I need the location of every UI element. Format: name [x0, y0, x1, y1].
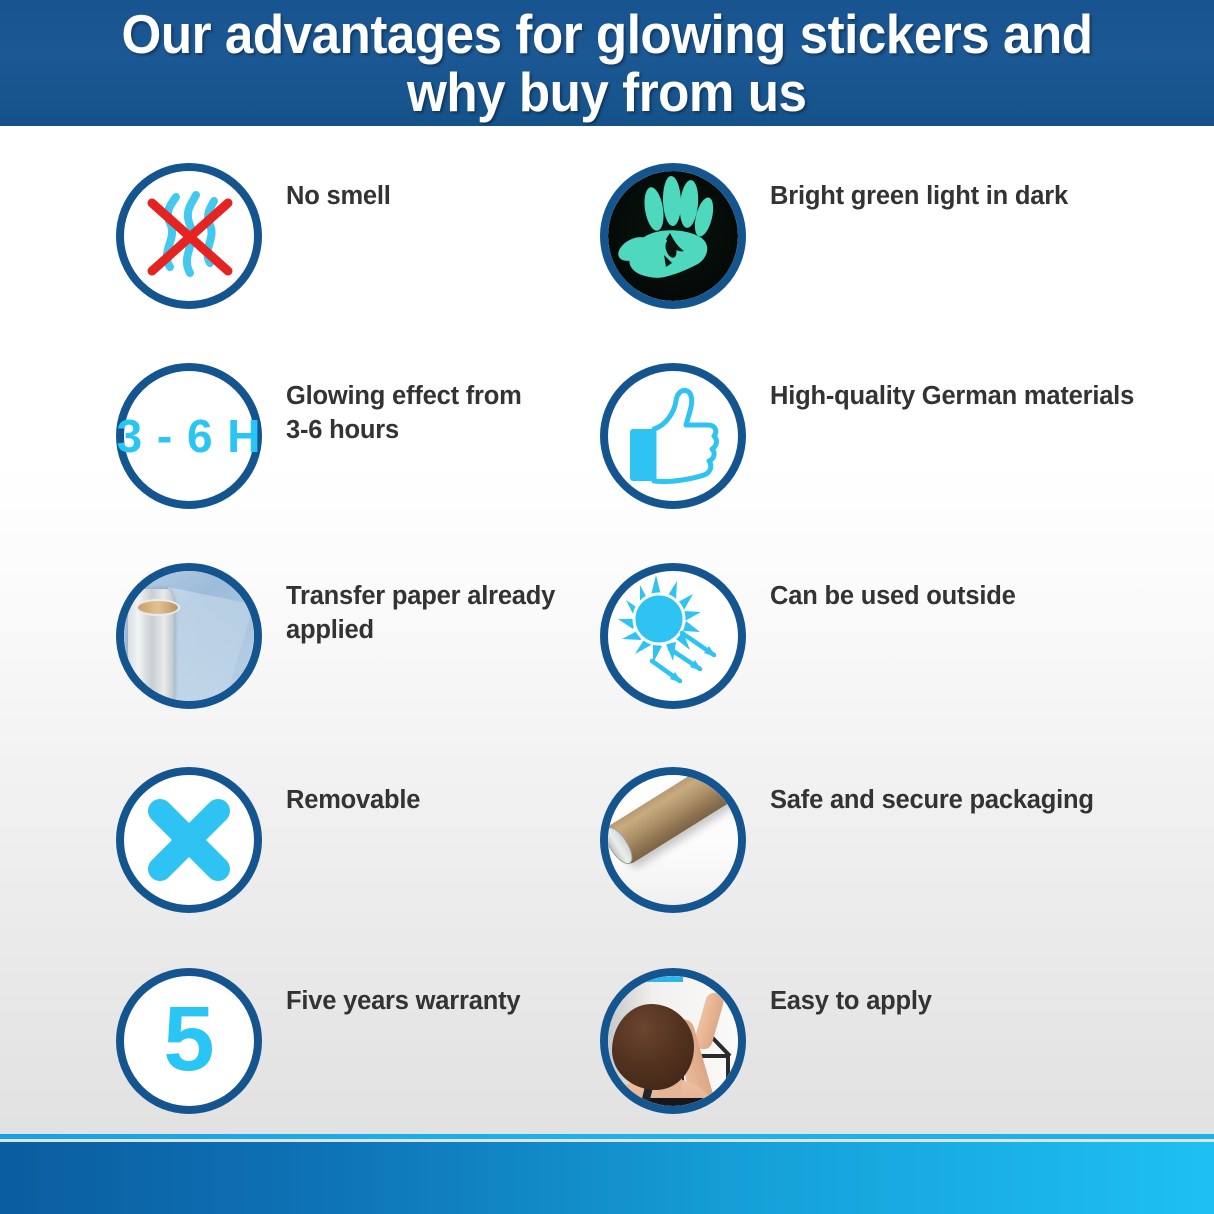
feature-bright-green-light: Bright green light in dark: [600, 163, 1068, 309]
feature-label-line-2: applied: [286, 616, 374, 644]
mailing-tube-photo: [600, 767, 746, 913]
x-mark-glyph: [124, 775, 254, 905]
feature-label: Five years warranty: [286, 968, 520, 1018]
bottom-accent-line: [0, 1134, 1214, 1139]
hours-3-6-icon: 3 - 6 H: [116, 363, 262, 509]
tube-end-cap: [608, 823, 638, 868]
bottom-bar: [0, 1142, 1214, 1214]
handprint-glyph: [608, 171, 738, 301]
feature-label: Safe and secure packaging: [770, 767, 1094, 817]
feature-grid: No smell: [0, 126, 1214, 1136]
feature-warranty: 5 Five years warranty: [116, 968, 520, 1114]
feature-outdoor-use: Can be used outside: [600, 563, 1016, 709]
film-sheet: [168, 587, 254, 701]
feature-german-materials: High-quality German materials: [600, 363, 1134, 509]
feature-label: High-quality German materials: [770, 363, 1134, 413]
feature-label: Glowing effect from 3-6 hours: [286, 363, 522, 447]
sun-rays-glyph: [608, 571, 738, 701]
infographic-page: Our advantages for glowing stickers and …: [0, 0, 1214, 1214]
hours-icon-text: 3 - 6 H: [116, 409, 261, 463]
cardboard-tube: [608, 775, 738, 865]
woman-applying-decal-photo: [600, 968, 746, 1114]
feature-secure-packaging: Safe and secure packaging: [600, 767, 1094, 913]
feature-label: No smell: [286, 163, 391, 213]
sun-uv-icon: [600, 563, 746, 709]
feature-label: Can be used outside: [770, 563, 1016, 613]
feature-label: Bright green light in dark: [770, 163, 1068, 213]
warranty-number: 5: [163, 993, 214, 1085]
transfer-paper-roll-photo: [116, 563, 262, 709]
thumbs-up-glyph: [608, 371, 738, 501]
cross-x-icon: [116, 767, 262, 913]
header-title-line-2: why buy from us: [407, 63, 806, 121]
number-five-icon: 5: [116, 968, 262, 1114]
hair: [612, 1004, 694, 1090]
thumbs-up-icon: [600, 363, 746, 509]
no-smell-glyph: [124, 171, 254, 301]
feature-label: Removable: [286, 767, 420, 817]
feature-transfer-paper: Transfer paper already applied: [116, 563, 555, 709]
feature-no-smell: No smell: [116, 163, 391, 309]
feature-label-line-1: Transfer paper already: [286, 582, 555, 610]
feature-easy-to-apply: Easy to apply: [600, 968, 932, 1114]
black-top: [624, 1098, 716, 1106]
feature-label: Transfer paper already applied: [286, 563, 555, 647]
feature-removable: Removable: [116, 767, 420, 913]
feature-glowing-duration: 3 - 6 H Glowing effect from 3-6 hours: [116, 363, 522, 509]
glowing-handprint-icon: [600, 163, 746, 309]
film-roll: [128, 589, 174, 701]
feature-label-line-1: Glowing effect from: [286, 382, 522, 410]
no-smell-icon: [116, 163, 262, 309]
header-title-line-1: Our advantages for glowing stickers and: [121, 5, 1092, 63]
feature-label-line-2: 3-6 hours: [286, 416, 399, 444]
feature-label: Easy to apply: [770, 968, 932, 1018]
header-banner: Our advantages for glowing stickers and …: [0, 0, 1214, 126]
roll-core: [136, 599, 180, 616]
